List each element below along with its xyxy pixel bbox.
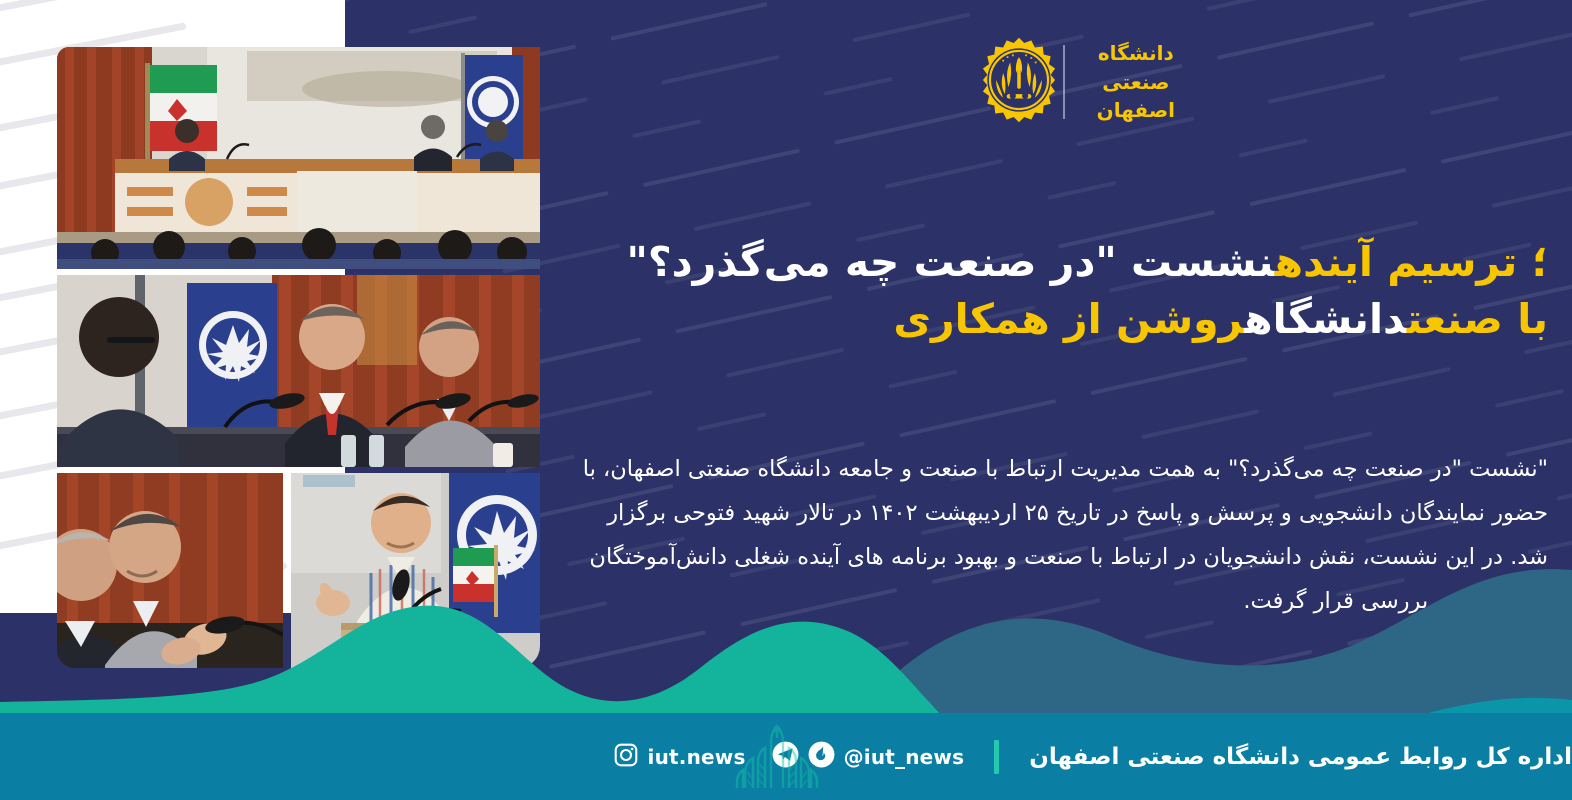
headline-line-1-white: نشست "در صنعت چه می‌گذرد؟" xyxy=(626,238,1274,286)
instagram-icon[interactable] xyxy=(613,742,639,772)
footer-bar: iut.news @iut_news xyxy=(0,713,1572,800)
footer-divider xyxy=(994,740,999,774)
headline-line-2-yellow-a: روشن از همکاری xyxy=(893,295,1244,343)
brand-logo-line-2: صنعتی xyxy=(1097,68,1175,96)
poster-canvas: دانشگاه صنعتی اصفهان xyxy=(0,0,1572,800)
headline-line-2-yellow-b: با صنعت xyxy=(1407,295,1548,343)
public-relations-office-title: اداره کل روابط عمومی دانشگاه صنعتی اصفها… xyxy=(1029,744,1572,770)
messenger-handle[interactable]: @iut_news xyxy=(844,745,965,769)
headline: ؛ ترسیم آیندهنشست "در صنعت چه می‌گذرد؟" … xyxy=(548,234,1548,349)
iut-gear-emblem-icon xyxy=(975,36,1063,128)
photo-panel-session-hall xyxy=(57,47,540,269)
headline-line-2: با صنعتدانشگاهروشن از همکاری xyxy=(548,291,1548,348)
headline-line-1: ؛ ترسیم آیندهنشست "در صنعت چه می‌گذرد؟" xyxy=(548,234,1548,291)
brand-logo-line-3: اصفهان xyxy=(1097,96,1175,124)
brand-logo-line-1: دانشگاه xyxy=(1097,39,1175,67)
headline-line-1-yellow: ؛ ترسیم آینده xyxy=(1275,238,1548,286)
photo-panel-speakers xyxy=(57,275,540,467)
brand-logo-divider xyxy=(1063,45,1065,119)
headline-line-2-white: دانشگاه xyxy=(1244,295,1407,343)
brand-logo-text: دانشگاه صنعتی اصفهان xyxy=(1081,39,1175,124)
iut-monument-icon xyxy=(725,714,829,798)
brand-logo: دانشگاه صنعتی اصفهان xyxy=(975,36,1175,128)
